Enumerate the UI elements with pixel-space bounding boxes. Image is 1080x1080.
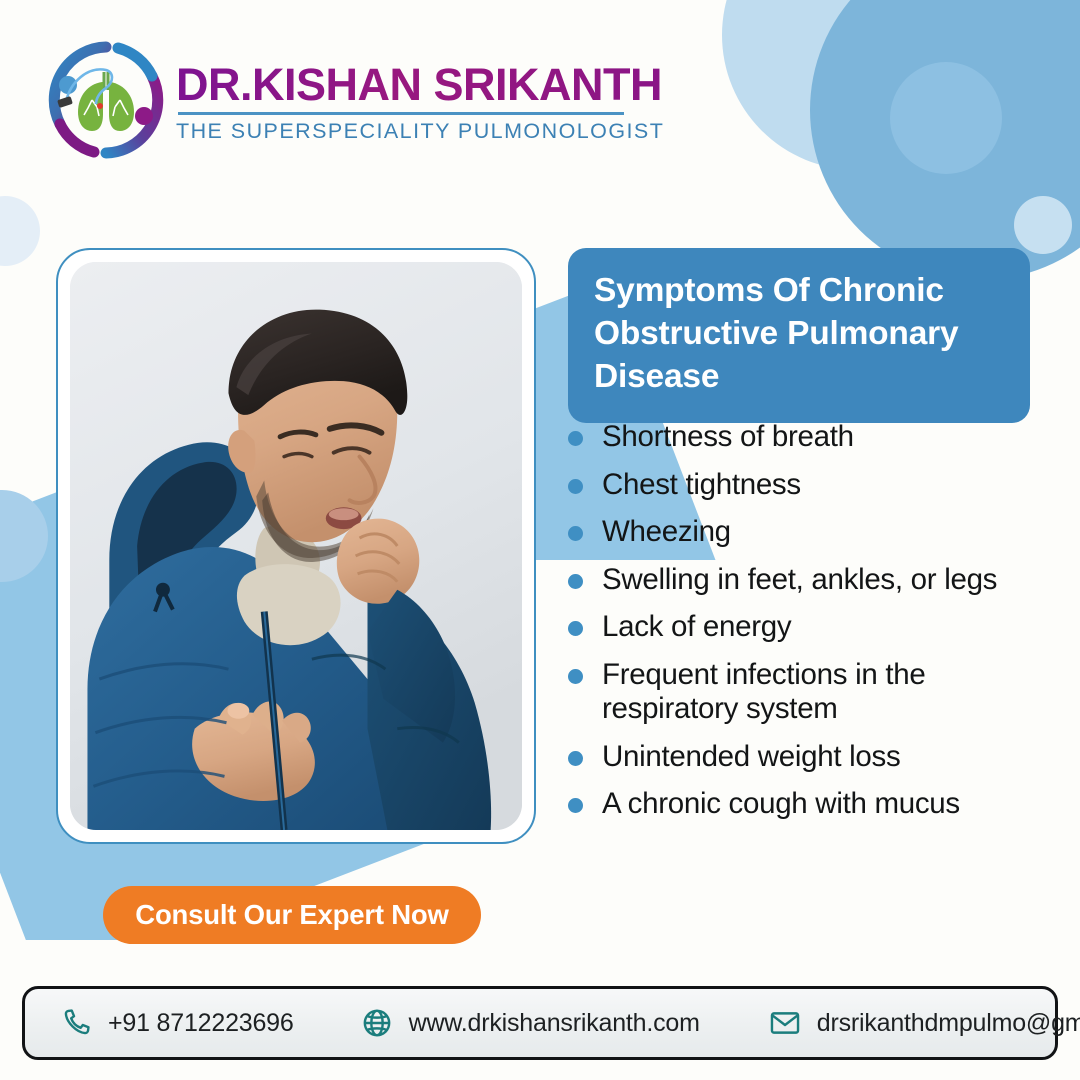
lungs-bronchoscope-logo-icon — [44, 38, 168, 162]
phone-icon — [59, 1006, 93, 1040]
symptom-label: Chest tightness — [602, 468, 801, 503]
list-item: Shortness of breath — [568, 420, 1068, 455]
bullet-dot-icon — [568, 751, 583, 766]
decor-circle-left-pale — [0, 196, 40, 266]
globe-icon — [360, 1006, 394, 1040]
bullet-dot-icon — [568, 479, 583, 494]
headline-banner: Symptoms Of Chronic Obstructive Pulmonar… — [568, 248, 1030, 423]
decor-circle-mid-right — [890, 62, 1002, 174]
symptom-label: Lack of energy — [602, 610, 791, 645]
bullet-dot-icon — [568, 574, 583, 589]
brand-name: DR.KISHAN SRIKANTH — [176, 62, 664, 108]
envelope-icon — [768, 1006, 802, 1040]
website-url: www.drkishansrikanth.com — [409, 1009, 700, 1038]
symptom-label: Shortness of breath — [602, 420, 854, 455]
brand-divider — [178, 112, 624, 115]
patient-photo-frame — [56, 248, 536, 844]
bullet-dot-icon — [568, 798, 583, 813]
symptom-label: A chronic cough with mucus — [602, 787, 960, 822]
decor-circle-small-right — [1014, 196, 1072, 254]
brand-header: DR.KISHAN SRIKANTH THE SUPERSPECIALITY P… — [44, 38, 664, 162]
list-item: Swelling in feet, ankles, or legs — [568, 563, 1068, 598]
bullet-dot-icon — [568, 669, 583, 684]
footer-website[interactable]: www.drkishansrikanth.com — [360, 989, 700, 1057]
email-address: drsrikanthdmpulmo@gmail.com — [817, 1009, 1080, 1038]
man-coughing-photo — [70, 262, 522, 830]
list-item: Chest tightness — [568, 468, 1068, 503]
list-item: Frequent infections in the respiratory s… — [568, 658, 1068, 727]
symptom-label: Swelling in feet, ankles, or legs — [602, 563, 997, 598]
contact-footer-bar: +91 8712223696 www.drkishansrikanth.com — [22, 986, 1058, 1060]
list-item: Lack of energy — [568, 610, 1068, 645]
footer-phone[interactable]: +91 8712223696 — [59, 989, 294, 1057]
symptom-label: Unintended weight loss — [602, 740, 900, 775]
consult-expert-label: Consult Our Expert Now — [135, 899, 448, 931]
symptom-label: Frequent infections in the respiratory s… — [602, 658, 1068, 727]
symptoms-list: Shortness of breath Chest tightness Whee… — [568, 420, 1068, 835]
list-item: Unintended weight loss — [568, 740, 1068, 775]
footer-email[interactable]: drsrikanthdmpulmo@gmail.com — [768, 989, 1080, 1057]
symptom-label: Wheezing — [602, 515, 731, 550]
consult-expert-button[interactable]: Consult Our Expert Now — [103, 886, 481, 944]
brand-wordmark: DR.KISHAN SRIKANTH THE SUPERSPECIALITY P… — [176, 56, 664, 145]
list-item: Wheezing — [568, 515, 1068, 550]
page-title: Symptoms Of Chronic Obstructive Pulmonar… — [594, 270, 1004, 399]
poster-canvas: DR.KISHAN SRIKANTH THE SUPERSPECIALITY P… — [0, 0, 1080, 1080]
phone-number: +91 8712223696 — [108, 1009, 294, 1038]
bullet-dot-icon — [568, 431, 583, 446]
list-item: A chronic cough with mucus — [568, 787, 1068, 822]
bullet-dot-icon — [568, 621, 583, 636]
bullet-dot-icon — [568, 526, 583, 541]
brand-tagline: THE SUPERSPECIALITY PULMONOLOGIST — [176, 119, 664, 144]
